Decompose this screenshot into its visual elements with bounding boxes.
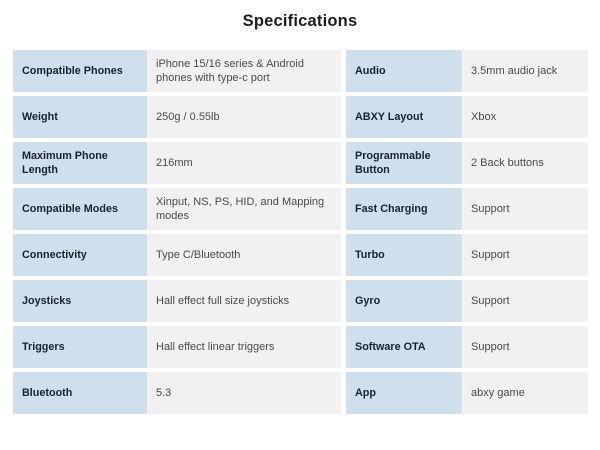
specifications-page: Specifications Compatible Phones iPhone …	[0, 0, 600, 450]
specifications-table: Compatible Phones iPhone 15/16 series & …	[13, 46, 588, 418]
spec-label: Compatible Phones	[13, 50, 147, 92]
spec-value: Type C/Bluetooth	[147, 234, 341, 276]
specifications-table-body: Compatible Phones iPhone 15/16 series & …	[13, 50, 588, 414]
spec-label: Maximum Phone Length	[13, 142, 147, 184]
spec-value: Xbox	[462, 96, 588, 138]
table-row: Maximum Phone Length 216mm Programmable …	[13, 142, 588, 184]
table-row: Compatible Phones iPhone 15/16 series & …	[13, 50, 588, 92]
spec-label: Triggers	[13, 326, 147, 368]
spec-value: Support	[462, 326, 588, 368]
spec-label: Audio	[346, 50, 462, 92]
spec-label: Gyro	[346, 280, 462, 322]
page-title: Specifications	[0, 0, 600, 31]
spec-label: Programmable Button	[346, 142, 462, 184]
spec-value: iPhone 15/16 series & Android phones wit…	[147, 50, 341, 92]
spec-value: Support	[462, 280, 588, 322]
spec-value: 3.5mm audio jack	[462, 50, 588, 92]
table-row: Weight 250g / 0.55lb ABXY Layout Xbox	[13, 96, 588, 138]
spec-label: Joysticks	[13, 280, 147, 322]
table-row: Bluetooth 5.3 App abxy game	[13, 372, 588, 414]
spec-value: Support	[462, 188, 588, 230]
spec-label: Fast Charging	[346, 188, 462, 230]
spec-label: Connectivity	[13, 234, 147, 276]
spec-value: Hall effect linear triggers	[147, 326, 341, 368]
spec-value: Hall effect full size joysticks	[147, 280, 341, 322]
spec-label: Software OTA	[346, 326, 462, 368]
spec-value: 216mm	[147, 142, 341, 184]
spec-label: Bluetooth	[13, 372, 147, 414]
spec-value: abxy game	[462, 372, 588, 414]
table-row: Triggers Hall effect linear triggers Sof…	[13, 326, 588, 368]
table-row: Joysticks Hall effect full size joystick…	[13, 280, 588, 322]
table-row: Compatible Modes Xinput, NS, PS, HID, an…	[13, 188, 588, 230]
spec-value: Xinput, NS, PS, HID, and Mapping modes	[147, 188, 341, 230]
spec-value: 2 Back buttons	[462, 142, 588, 184]
spec-value: 250g / 0.55lb	[147, 96, 341, 138]
spec-label: Compatible Modes	[13, 188, 147, 230]
spec-label: App	[346, 372, 462, 414]
spec-value: Support	[462, 234, 588, 276]
spec-label: ABXY Layout	[346, 96, 462, 138]
spec-value: 5.3	[147, 372, 341, 414]
spec-label: Turbo	[346, 234, 462, 276]
spec-label: Weight	[13, 96, 147, 138]
table-row: Connectivity Type C/Bluetooth Turbo Supp…	[13, 234, 588, 276]
